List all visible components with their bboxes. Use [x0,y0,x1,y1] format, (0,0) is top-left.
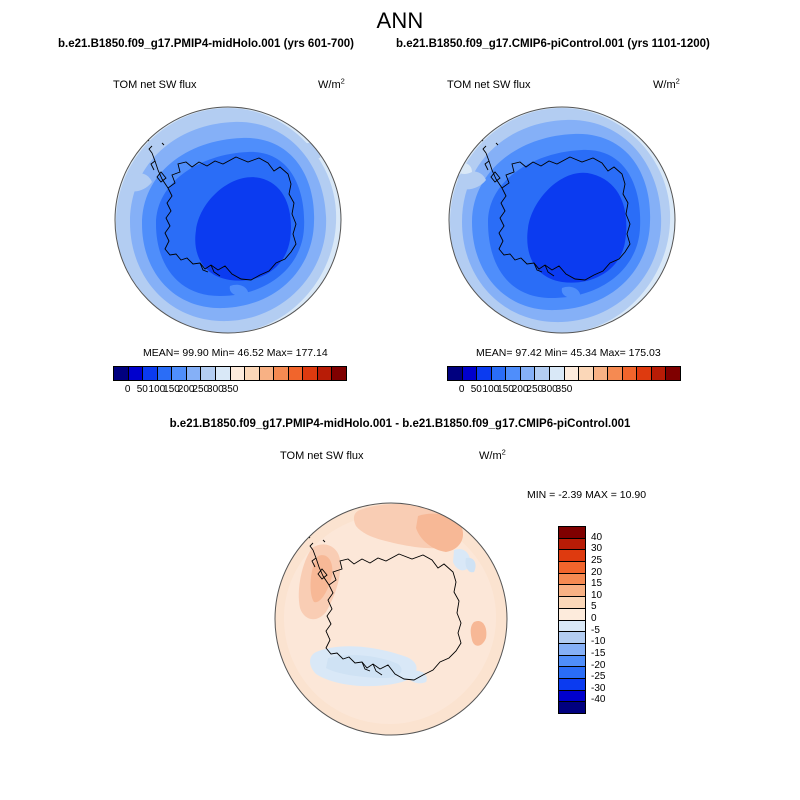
colorbar-cell [200,367,215,380]
colorbar-tick-label: 5 [591,601,597,612]
right-panel-subtitle: b.e21.B1850.f09_g17.CMIP6-piControl.001 … [396,38,710,50]
right-panel-colorbar: 050100150200250300350 [447,366,681,398]
colorbar-cell [622,367,637,380]
colorbar-cell [244,367,259,380]
colorbar-cell [520,367,535,380]
colorbar-tick-label: -15 [591,648,605,659]
difference-unit-label: W/m2 [479,450,506,462]
left-panel-field-label: TOM net SW flux [113,79,197,91]
colorbar-tick-label: 50 [471,384,482,395]
colorbar-cell [665,367,680,380]
right-panel-map [442,100,682,345]
colorbar-cell [559,549,585,561]
colorbar-tick-label: -25 [591,671,605,682]
colorbar-tick-label: 15 [591,578,602,589]
colorbar-cell [559,620,585,632]
right-unit-exponent: 2 [676,76,680,85]
left-colorbar-cells [113,366,347,381]
colorbar-cell [157,367,172,380]
colorbar-cell [534,367,549,380]
colorbar-tick-label: -5 [591,625,600,636]
colorbar-cell [114,367,128,380]
colorbar-tick-label: -30 [591,683,605,694]
colorbar-tick-label: 0 [459,384,465,395]
colorbar-tick-label: 0 [125,384,131,395]
difference-colorbar: 40302520151050-5-10-15-20-25-30-40 [558,526,586,714]
left-map-svg [108,100,348,340]
colorbar-cell [448,367,462,380]
colorbar-cell [559,643,585,655]
left-panel-map [108,100,348,345]
difference-map-svg [268,496,514,742]
right-unit-base: W/m [653,79,676,91]
left-unit-exponent: 2 [341,76,345,85]
left-panel-stats: MEAN= 99.90 Min= 46.52 Max= 177.14 [143,347,328,359]
colorbar-cell [578,367,593,380]
colorbar-cell [317,367,332,380]
colorbar-cell [559,608,585,620]
colorbar-cell [559,701,585,713]
colorbar-cell [215,367,230,380]
colorbar-cell [230,367,245,380]
colorbar-cell [607,367,622,380]
colorbar-tick-label: 0 [591,613,597,624]
colorbar-cell [564,367,579,380]
difference-colorbar-ticks: 40302520151050-5-10-15-20-25-30-40 [591,519,621,719]
colorbar-cell [559,690,585,702]
colorbar-cell [593,367,608,380]
right-panel-unit-label: W/m2 [653,79,680,91]
left-panel-colorbar: 050100150200250300350 [113,366,347,398]
colorbar-cell [559,584,585,596]
colorbar-cell [549,367,564,380]
right-panel-stats: MEAN= 97.42 Min= 45.34 Max= 175.03 [476,347,661,359]
colorbar-cell [302,367,317,380]
colorbar-cell [559,631,585,643]
colorbar-cell [559,573,585,585]
colorbar-cell [186,367,201,380]
colorbar-tick-label: 350 [556,384,573,395]
colorbar-cell [171,367,186,380]
colorbar-cell [559,527,585,538]
colorbar-cell [462,367,477,380]
colorbar-tick-label: -10 [591,636,605,647]
difference-panel-title: b.e21.B1850.f09_g17.PMIP4-midHolo.001 - … [0,418,800,430]
colorbar-cell [331,367,346,380]
colorbar-cell [259,367,274,380]
right-colorbar-ticks: 050100150200250300350 [447,384,681,398]
difference-panel-stats: MIN = -2.39 MAX = 10.90 [527,489,646,501]
colorbar-tick-label: -20 [591,660,605,671]
colorbar-tick-label: 20 [591,567,602,578]
colorbar-tick-label: 10 [591,590,602,601]
colorbar-cell [559,666,585,678]
difference-map [268,496,514,747]
colorbar-cell [142,367,157,380]
colorbar-cell [559,678,585,690]
left-unit-base: W/m [318,79,341,91]
diff-unit-exponent: 2 [502,447,506,456]
difference-colorbar-cells [558,526,586,714]
colorbar-cell [128,367,143,380]
colorbar-cell [636,367,651,380]
left-panel-subtitle: b.e21.B1850.f09_g17.PMIP4-midHolo.001 (y… [58,38,354,50]
colorbar-tick-label: 25 [591,555,602,566]
page-title: ANN [0,8,800,34]
colorbar-cell [559,538,585,550]
colorbar-cell [559,655,585,667]
colorbar-tick-label: 350 [222,384,239,395]
colorbar-cell [651,367,666,380]
colorbar-cell [273,367,288,380]
right-colorbar-cells [447,366,681,381]
difference-field-label: TOM net SW flux [280,450,364,462]
left-colorbar-ticks: 050100150200250300350 [113,384,347,398]
left-panel-unit-label: W/m2 [318,79,345,91]
colorbar-cell [491,367,506,380]
colorbar-tick-label: 50 [137,384,148,395]
colorbar-cell [559,561,585,573]
colorbar-cell [476,367,491,380]
right-panel-field-label: TOM net SW flux [447,79,531,91]
right-map-svg [442,100,682,340]
colorbar-cell [288,367,303,380]
colorbar-cell [505,367,520,380]
colorbar-cell [559,596,585,608]
diff-unit-base: W/m [479,450,502,462]
colorbar-tick-label: -40 [591,694,605,705]
colorbar-tick-label: 40 [591,532,602,543]
colorbar-tick-label: 30 [591,543,602,554]
